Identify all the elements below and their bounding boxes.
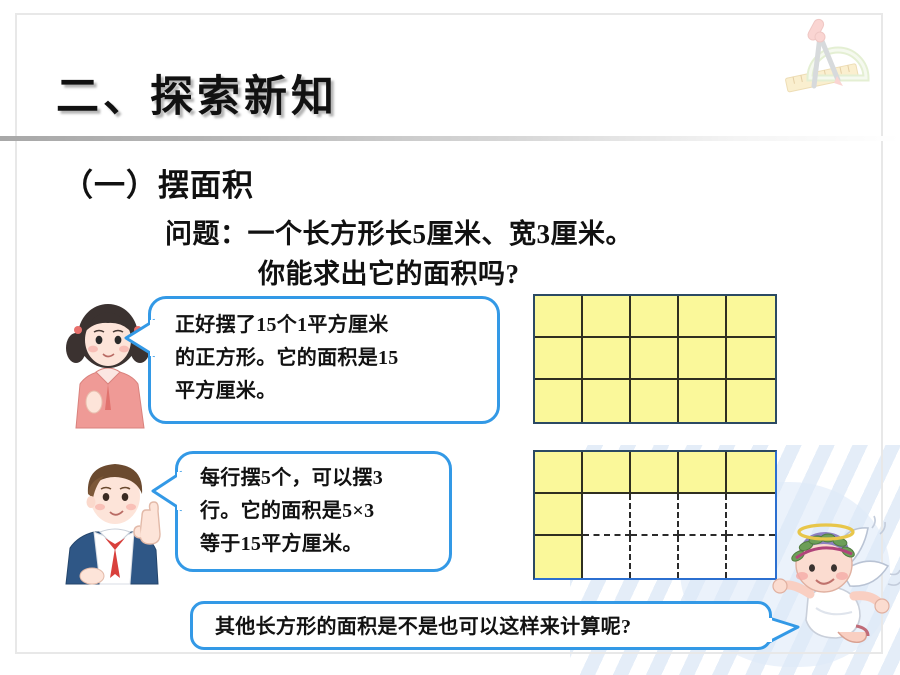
grid-row bbox=[535, 296, 775, 338]
boy-bubble-text: 每行摆5个，可以摆3 行。它的面积是5×3 等于15平方厘米。 bbox=[178, 454, 449, 561]
grid-cell-filled bbox=[583, 452, 631, 494]
area-grid-partial bbox=[533, 450, 777, 580]
section-heading: （一）摆面积 bbox=[62, 160, 254, 205]
grid-cell-filled bbox=[727, 380, 775, 422]
grid-cell-filled bbox=[535, 380, 583, 422]
grid-cell-filled bbox=[535, 338, 583, 380]
bottom-bubble-text: 其他长方形的面积是不是也可以这样来计算呢? bbox=[193, 604, 769, 642]
grid-cell-filled bbox=[583, 296, 631, 338]
grid-cell-empty bbox=[679, 536, 727, 578]
grid-cell-filled bbox=[631, 338, 679, 380]
question-line-2: 你能求出它的面积吗? bbox=[258, 252, 520, 291]
drawing-tools-icon bbox=[780, 20, 872, 100]
grid-cell-empty bbox=[631, 536, 679, 578]
girl-bubble-text: 正好摆了15个1平方厘米 的正方形。它的面积是15 平方厘米。 bbox=[151, 299, 497, 408]
grid-cell-filled bbox=[679, 338, 727, 380]
grid-cell-empty bbox=[631, 494, 679, 536]
grid-cell-filled bbox=[631, 380, 679, 422]
grid-row bbox=[535, 338, 775, 380]
girl-speech-bubble: 正好摆了15个1平方厘米 的正方形。它的面积是15 平方厘米。 bbox=[148, 296, 500, 424]
grid-cell-filled bbox=[535, 536, 583, 578]
page-title: 二、探索新知 bbox=[56, 62, 338, 124]
title-divider bbox=[0, 136, 900, 141]
question-line-1: 问题：一个长方形长5厘米、宽3厘米。 bbox=[165, 212, 633, 251]
area-grid-full bbox=[533, 294, 777, 424]
grid-row bbox=[535, 494, 775, 536]
grid-cell-filled bbox=[679, 296, 727, 338]
grid-cell-filled bbox=[679, 380, 727, 422]
boy-bubble-tail bbox=[150, 470, 183, 514]
angel-cherub-illustration bbox=[768, 512, 896, 652]
grid-cell-filled bbox=[727, 338, 775, 380]
grid-cell-filled bbox=[631, 452, 679, 494]
grid-cell-filled bbox=[535, 452, 583, 494]
grid-row bbox=[535, 536, 775, 578]
grid-cell-filled bbox=[583, 380, 631, 422]
grid-cell-filled bbox=[679, 452, 727, 494]
grid-cell-filled bbox=[631, 296, 679, 338]
grid-cell-empty bbox=[583, 536, 631, 578]
grid-cell-filled bbox=[535, 296, 583, 338]
grid-row bbox=[535, 380, 775, 422]
slide-canvas: 二、探索新知 （一）摆面积 问题：一个长方形长5厘米、宽3厘米。 你能求出它的面… bbox=[0, 0, 900, 675]
grid-cell-filled bbox=[535, 494, 583, 536]
bottom-speech-bubble: 其他长方形的面积是不是也可以这样来计算呢? bbox=[190, 601, 772, 650]
grid-cell-filled bbox=[727, 452, 775, 494]
grid-cell-filled bbox=[583, 338, 631, 380]
grid-cell-filled bbox=[727, 296, 775, 338]
grid-row bbox=[535, 452, 775, 494]
girl-bubble-tail bbox=[122, 318, 156, 362]
grid-cell-empty bbox=[583, 494, 631, 536]
grid-cell-empty bbox=[679, 494, 727, 536]
boy-speech-bubble: 每行摆5个，可以摆3 行。它的面积是5×3 等于15平方厘米。 bbox=[175, 451, 452, 572]
